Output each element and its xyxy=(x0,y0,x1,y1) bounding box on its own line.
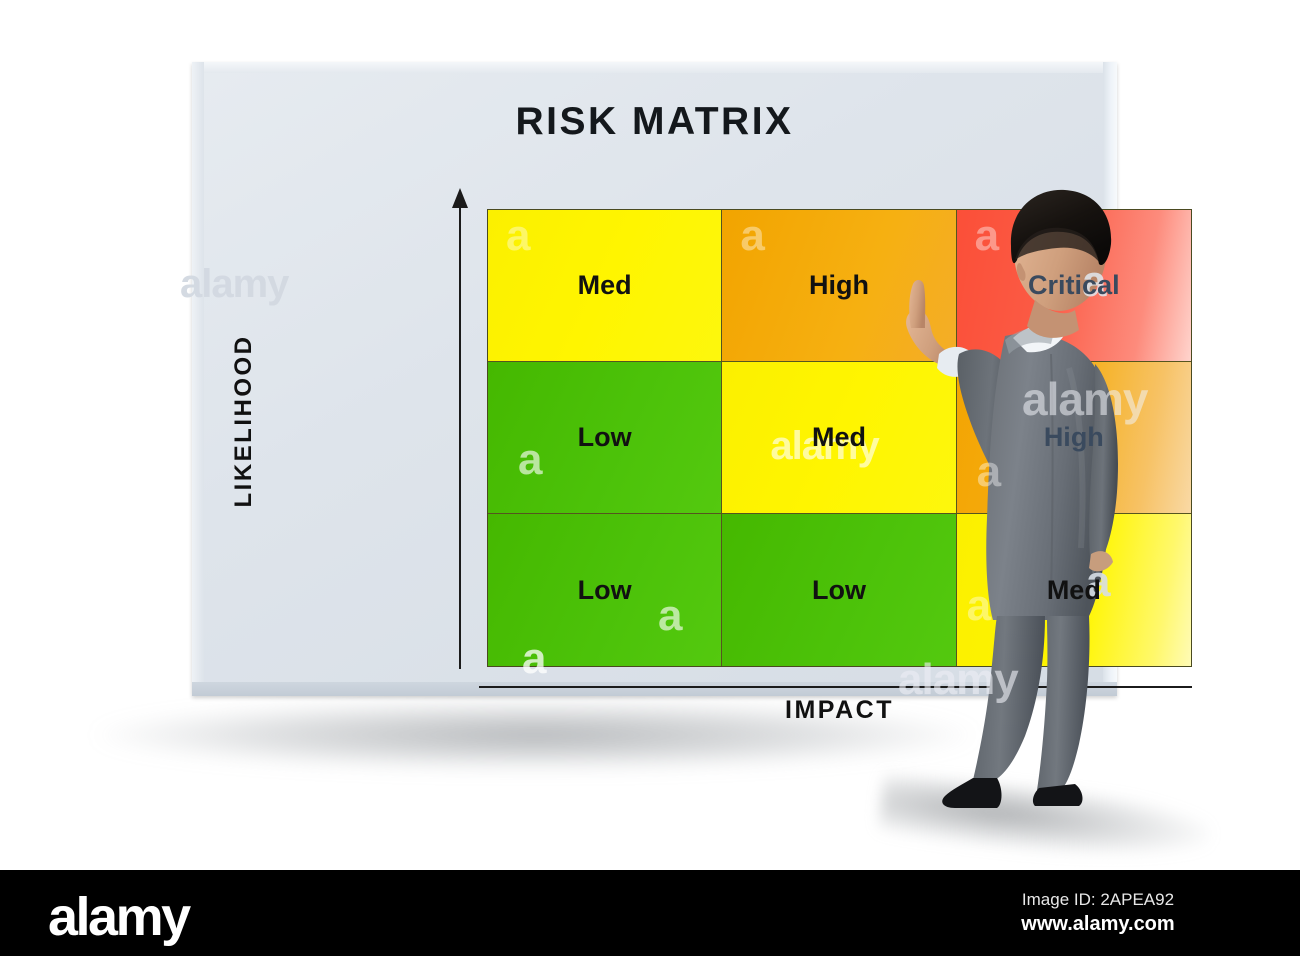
alamy-url-text: www.alamy.com xyxy=(948,913,1248,936)
matrix-cell-label: Critical xyxy=(1028,270,1120,301)
likelihood-axis-line xyxy=(459,202,461,669)
matrix-cell-label: Low xyxy=(812,575,866,606)
matrix-cell-label: Med xyxy=(812,422,866,453)
matrix-cell-label: High xyxy=(1044,422,1104,453)
stock-footer-bar: alamy Image ID: 2APEA92 www.alamy.com xyxy=(0,870,1300,956)
footer-meta: Image ID: 2APEA92 www.alamy.com xyxy=(948,890,1248,936)
matrix-cell-label: Low xyxy=(578,422,632,453)
watermark-letter-icon: a xyxy=(506,214,530,258)
board-bevel-left xyxy=(192,62,204,696)
risk-matrix-grid: a Med a High a Critical a Low alamy Med … xyxy=(487,209,1192,667)
matrix-cell-r2c0[interactable]: a Low xyxy=(488,514,722,666)
matrix-cell-r1c0[interactable]: a Low xyxy=(488,362,722,514)
page-title: RISK MATRIX xyxy=(192,100,1117,144)
watermark-letter-icon: a xyxy=(658,594,682,638)
watermark-letter-icon: a xyxy=(740,214,764,258)
matrix-cell-label: High xyxy=(809,270,869,301)
businessman-figure xyxy=(855,168,1145,808)
matrix-cell-label: Low xyxy=(578,575,632,606)
image-id-text: Image ID: 2APEA92 xyxy=(948,890,1248,910)
matrix-cell-label: Med xyxy=(578,270,632,301)
alamy-logo: alamy xyxy=(48,886,189,948)
matrix-cell-label: Med xyxy=(1047,575,1101,606)
screenshot-stage: RISK MATRIX LIKELIHOOD IMPACT a Med a Hi… xyxy=(0,0,1300,956)
matrix-cell-r0c0[interactable]: a Med xyxy=(488,210,722,362)
watermark-letter-icon: a xyxy=(518,438,542,482)
likelihood-axis-label: LIKELIHOOD xyxy=(230,306,258,536)
board-bevel-top xyxy=(192,62,1117,73)
